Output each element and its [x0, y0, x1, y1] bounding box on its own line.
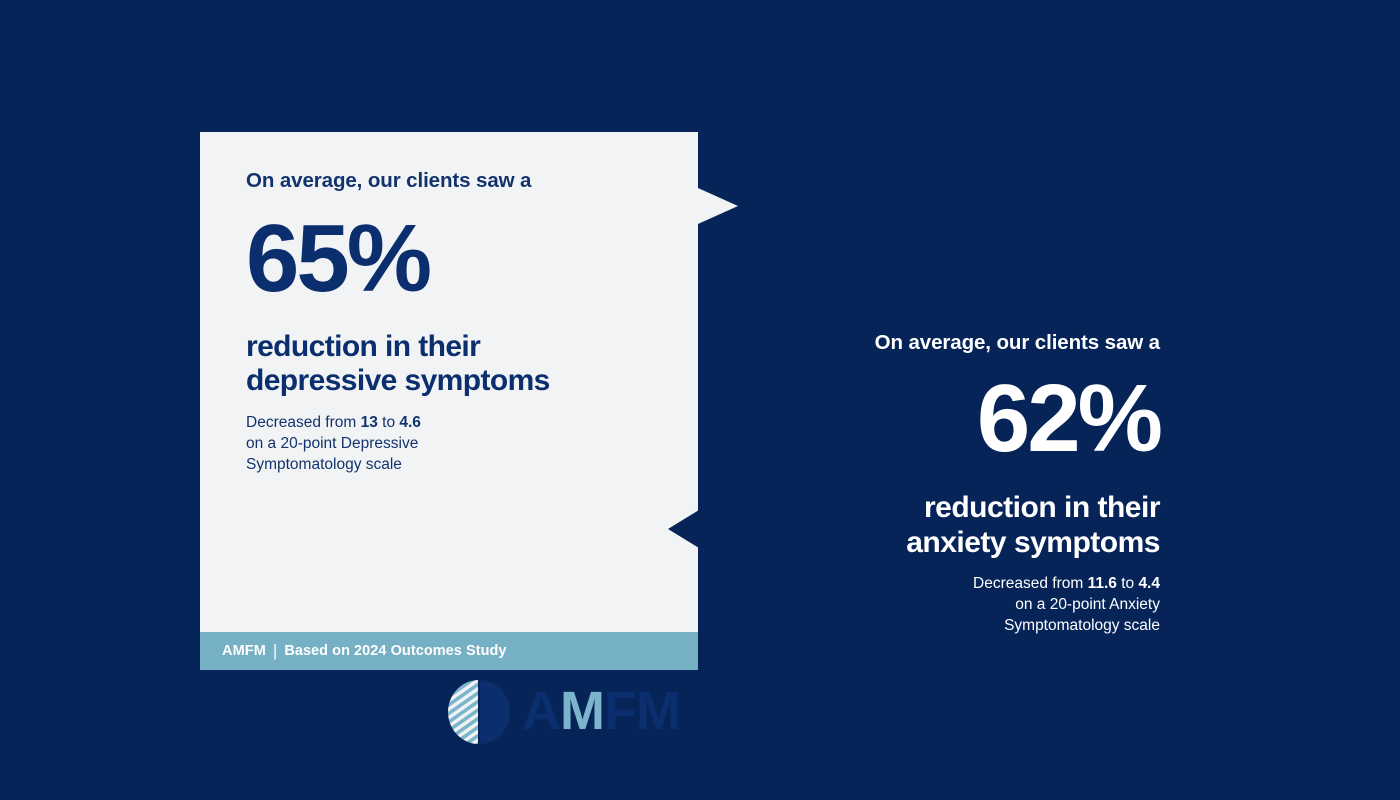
card-subnote-line-2: on a 20-point Depressive [246, 434, 678, 455]
card-pointer-left-icon [668, 510, 699, 548]
card-footer-bar: AMFM | Based on 2024 Outcomes Study [200, 632, 698, 670]
card-headline-line-1: reduction in their [246, 330, 678, 365]
footer-source-label: Based on 2024 Outcomes Study [284, 643, 506, 659]
logo-letter-f: F [604, 681, 636, 741]
card-subnote-line-1: Decreased from 13 to 4.6 [246, 413, 678, 434]
card-subnote-line-3: Symptomatology scale [246, 455, 678, 476]
panel-eyebrow: On average, our clients saw a [760, 330, 1160, 356]
card-content: On average, our clients saw a 65% reduct… [246, 168, 678, 475]
panel-headline: reduction in their anxiety symptoms [760, 490, 1160, 561]
panel-headline-line-1: reduction in their [760, 490, 1160, 525]
panel-subnote-line-2: on a 20-point Anxiety [760, 595, 1160, 616]
depression-stat-card: On average, our clients saw a 65% reduct… [200, 132, 698, 670]
logo-letter-m-light: M [560, 681, 604, 741]
card-headline-line-2: depressive symptoms [246, 364, 678, 399]
card-stat-value: 65% [246, 210, 678, 308]
panel-headline-line-2: anxiety symptoms [760, 525, 1160, 560]
panel-subnote-prefix: Decreased from [973, 575, 1088, 592]
logo-letter-a: A [522, 681, 560, 741]
card-eyebrow: On average, our clients saw a [246, 168, 678, 194]
amfm-logo: AMFM [446, 679, 680, 745]
panel-subnote-line-1: Decreased from 11.6 to 4.4 [760, 574, 1160, 595]
panel-stat-percent-sign: % [1078, 365, 1160, 472]
anxiety-stat-panel: On average, our clients saw a 62% reduct… [760, 330, 1160, 637]
amfm-wordmark: AMFM [522, 684, 680, 738]
card-subnote-from: 13 [361, 414, 378, 431]
card-subnote-prefix: Decreased from [246, 414, 361, 431]
footer-separator: | [273, 641, 277, 661]
amfm-circle-mark-icon [446, 679, 512, 745]
panel-subnote-line-3: Symptomatology scale [760, 616, 1160, 637]
panel-subnote-to: 4.4 [1138, 575, 1160, 592]
panel-subnote-mid: to [1117, 575, 1139, 592]
card-subnote-to: 4.6 [399, 414, 421, 431]
panel-subnote: Decreased from 11.6 to 4.4 on a 20-point… [760, 574, 1160, 636]
card-stat-number: 65 [246, 205, 347, 312]
infographic-canvas: On average, our clients saw a 65% reduct… [0, 0, 1400, 800]
card-stat-percent-sign: % [347, 205, 430, 312]
logo-letter-m: M [636, 681, 680, 741]
panel-subnote-from: 11.6 [1088, 575, 1117, 592]
footer-brand-label: AMFM [222, 643, 266, 659]
card-subnote: Decreased from 13 to 4.6 on a 20-point D… [246, 413, 678, 475]
card-headline: reduction in their depressive symptoms [246, 330, 678, 400]
card-subnote-mid: to [378, 414, 400, 431]
panel-stat-value: 62% [760, 370, 1160, 468]
card-pointer-right-icon [698, 188, 738, 224]
panel-stat-number: 62 [977, 365, 1078, 472]
